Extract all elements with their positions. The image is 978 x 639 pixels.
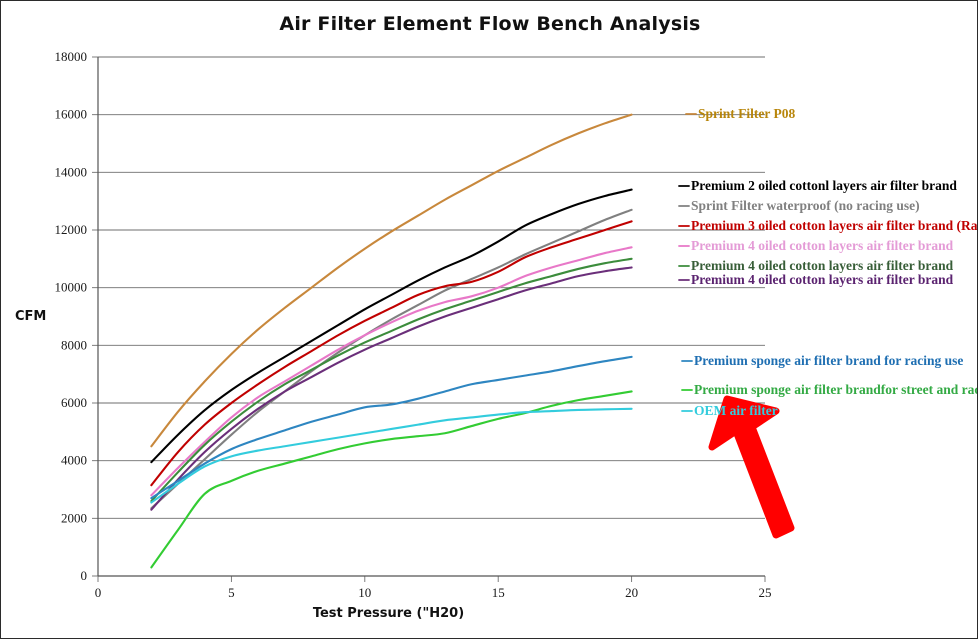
plot-area: 0200040006000800010000120001400016000180… xyxy=(1,1,978,639)
y-tick-label: 2000 xyxy=(61,510,87,525)
x-tick-label: 15 xyxy=(492,585,505,600)
y-tick-label: 14000 xyxy=(55,164,88,179)
y-tick-label: 12000 xyxy=(55,222,88,237)
y-tick-label: 18000 xyxy=(55,49,88,64)
chart-screenshot: Air Filter Element Flow Bench Analysis C… xyxy=(0,0,978,639)
series-legend-label: Sprint Filter waterproof (no racing use) xyxy=(691,199,920,213)
series-legend-label: Premium 4 oiled cotton layers air filter… xyxy=(691,259,953,273)
series-line xyxy=(151,267,631,509)
x-tick-label: 10 xyxy=(358,585,371,600)
x-axis-ticks: 0510152025 xyxy=(95,576,772,600)
y-axis-ticks: 0200040006000800010000120001400016000180… xyxy=(55,49,99,583)
series-legend-label: Premium 3 oiled cotton layers air filter… xyxy=(691,219,978,233)
series-line xyxy=(151,221,631,485)
red-arrow-annotation xyxy=(712,399,791,535)
series-legend-label: Sprint Filter P08 xyxy=(698,107,795,121)
series-line xyxy=(151,391,631,567)
x-tick-label: 0 xyxy=(95,585,102,600)
series-legend-label: Premium sponge air filter brandfor stree… xyxy=(694,383,978,397)
x-tick-label: 25 xyxy=(759,585,772,600)
series-line xyxy=(151,210,631,508)
series-legend-label: Premium 2 oiled cottonl layers air filte… xyxy=(691,179,957,193)
series-line xyxy=(151,409,631,503)
series-legend-label: Premium sponge air filter brand for raci… xyxy=(694,354,963,368)
y-tick-label: 6000 xyxy=(61,395,87,410)
y-tick-label: 16000 xyxy=(55,107,88,122)
y-tick-label: 4000 xyxy=(61,453,87,468)
y-tick-label: 10000 xyxy=(55,280,88,295)
series-legend-label: Premium 4 oiled cotton layers air filter… xyxy=(691,239,953,253)
y-tick-label: 8000 xyxy=(61,337,87,352)
x-tick-label: 20 xyxy=(625,585,638,600)
series-legend-label: Premium 4 oiled cotton layers air filter… xyxy=(691,273,953,287)
series-legend-label: OEM air filter xyxy=(694,404,778,418)
series-curves xyxy=(151,115,631,568)
x-tick-label: 5 xyxy=(228,585,235,600)
y-tick-label: 0 xyxy=(81,568,88,583)
